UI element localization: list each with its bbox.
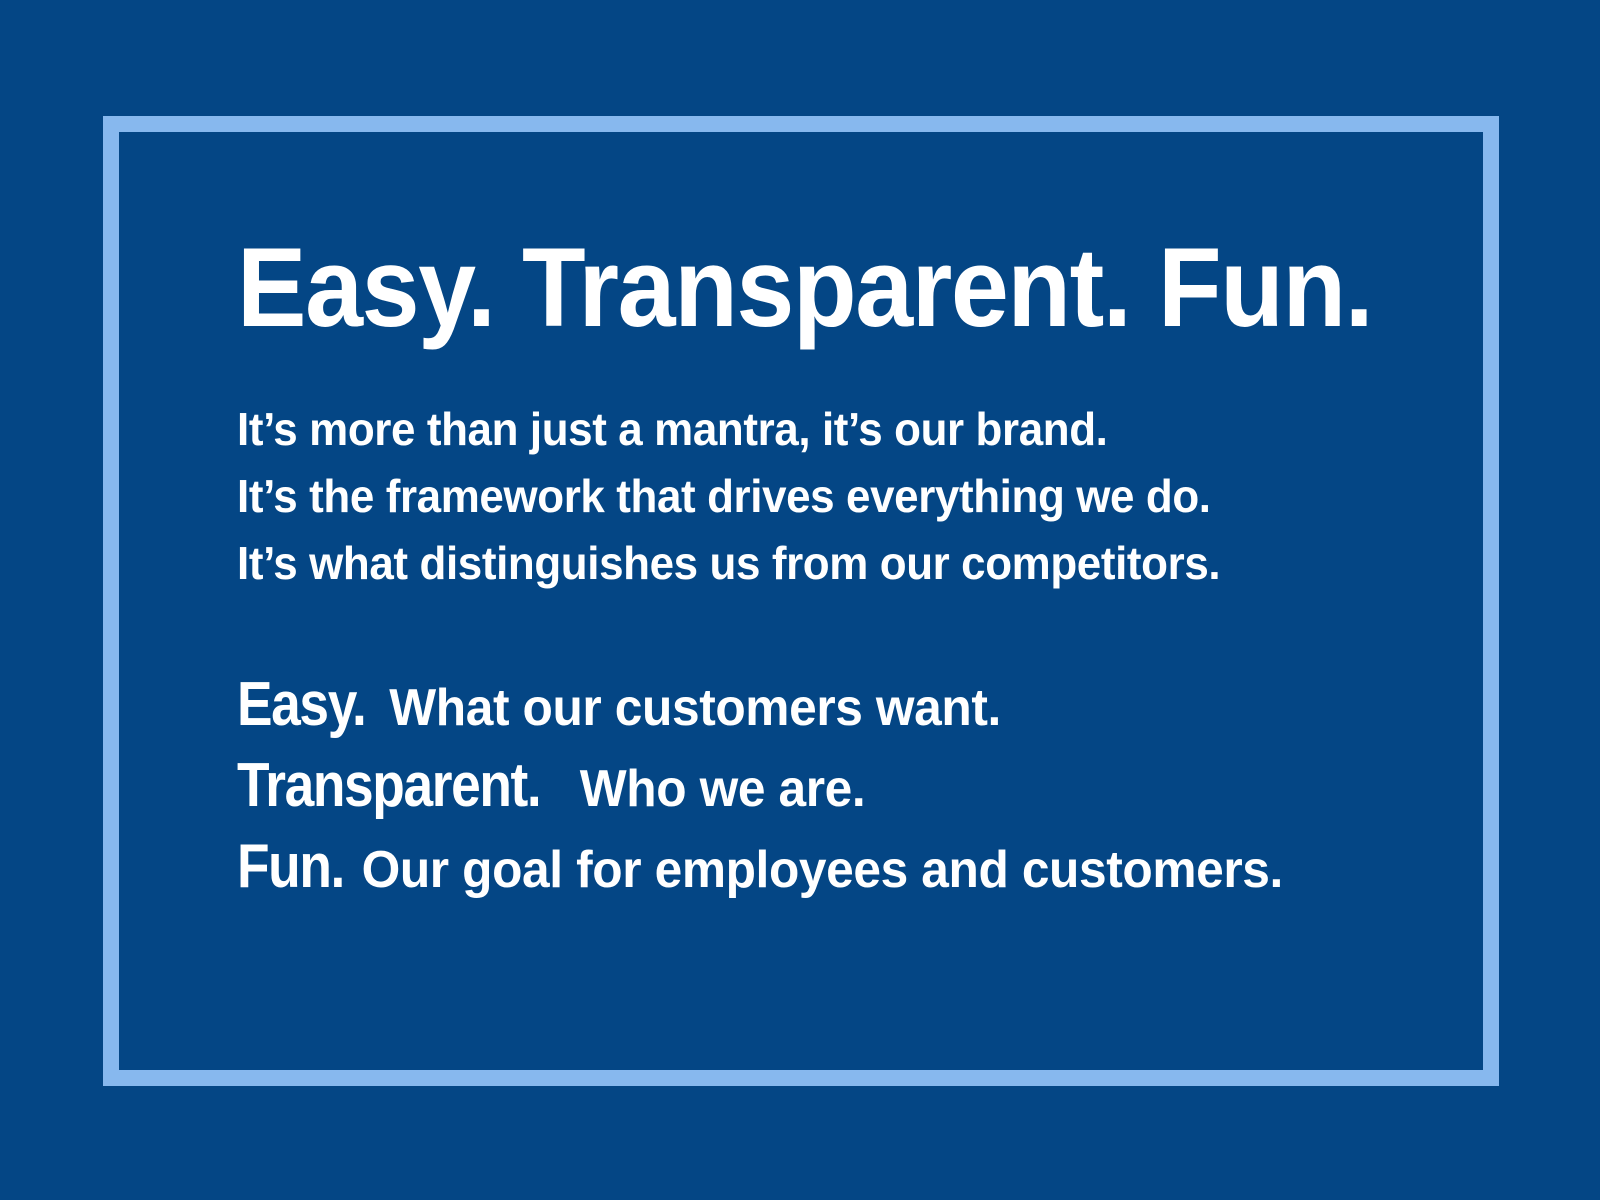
slide-content: Easy. Transparent. Fun. It’s more than j…: [237, 232, 1417, 912]
intro-line: It’s what distinguishes us from our comp…: [237, 530, 1364, 597]
definition-term: Fun.: [237, 831, 344, 902]
intro-paragraph: It’s more than just a mantra, it’s our b…: [237, 396, 1417, 597]
definition-item: Fun. Our goal for employees and customer…: [237, 831, 1364, 912]
definition-item: Easy. What our customers want.: [237, 669, 1364, 750]
definition-item: Transparent. Who we are.: [237, 750, 1364, 831]
brand-mantra-slide: Easy. Transparent. Fun. It’s more than j…: [0, 0, 1600, 1200]
definition-term: Transparent.: [237, 750, 540, 821]
definition-list: Easy. What our customers want. Transpare…: [237, 669, 1417, 912]
definition-description: Our goal for employees and customers.: [362, 840, 1283, 900]
definition-term: Easy.: [237, 669, 365, 740]
page-title: Easy. Transparent. Fun.: [237, 232, 1334, 344]
definition-description: What our customers want.: [389, 678, 1001, 738]
definition-description: Who we are.: [580, 759, 866, 819]
intro-line: It’s more than just a mantra, it’s our b…: [237, 396, 1364, 463]
intro-line: It’s the framework that drives everythin…: [237, 463, 1364, 530]
